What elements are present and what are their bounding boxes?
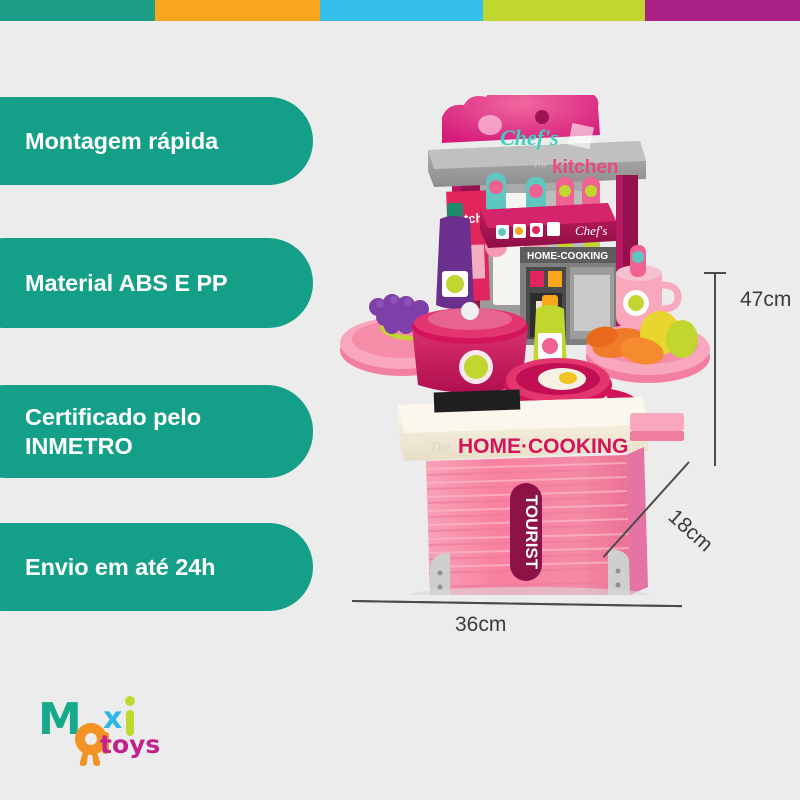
dimension-label-width: 36cm (455, 613, 506, 637)
shelf-kitchen-text: kitchen (552, 157, 619, 178)
color-segment-blue (320, 0, 483, 21)
color-segment-orange (155, 0, 320, 21)
shelf-right-small (630, 413, 684, 441)
color-segment-magenta (645, 0, 800, 21)
stove-burner (434, 390, 521, 413)
feature-pill-montagem-rapida: Montagem rápida (0, 97, 313, 185)
chefs-top-sign: Chef's (442, 95, 600, 150)
color-segment-teal (0, 0, 155, 21)
feature-pill-material: Material ABS E PP (0, 238, 313, 328)
top-color-bar (0, 0, 800, 21)
counter-home-cooking-text: HOME·COOKING (458, 435, 628, 458)
tourist-text: TOURIST (522, 495, 541, 570)
chefs-sign-text: Chef's (500, 125, 559, 150)
dimension-label-height: 47cm (740, 288, 791, 312)
dimension-line-height (714, 272, 716, 466)
bottle-left (436, 203, 474, 309)
feature-pill-envio: Envio em até 24h (0, 523, 313, 611)
feature-pill-inmetro: Certificado pelo INMETRO (0, 385, 313, 478)
svg-text:The: The (533, 159, 549, 170)
control-panel: Chef's (480, 203, 616, 248)
feature-label: Certificado pelo INMETRO (25, 403, 201, 460)
hood-home-cooking-text: HOME-COOKING (527, 251, 608, 262)
suitcase-body: TOURIST (426, 447, 648, 595)
feature-label: Material ABS E PP (25, 269, 227, 298)
feature-label: Montagem rápida (25, 127, 218, 156)
maxi-toys-logo: M x toys (40, 694, 170, 766)
product-image-toy-kitchen: kitchen kitche kitchen The Chef's (330, 95, 720, 595)
dimension-tick-top (704, 272, 726, 274)
logo-word-toys: toys (100, 730, 160, 759)
dimension-line-width (352, 600, 682, 607)
panel-chefs-text: Chef's (575, 223, 607, 238)
green-pepper (666, 320, 698, 358)
feature-label: Envio em até 24h (25, 553, 215, 582)
counter-small-text: The (430, 439, 450, 454)
color-segment-lime (483, 0, 645, 21)
